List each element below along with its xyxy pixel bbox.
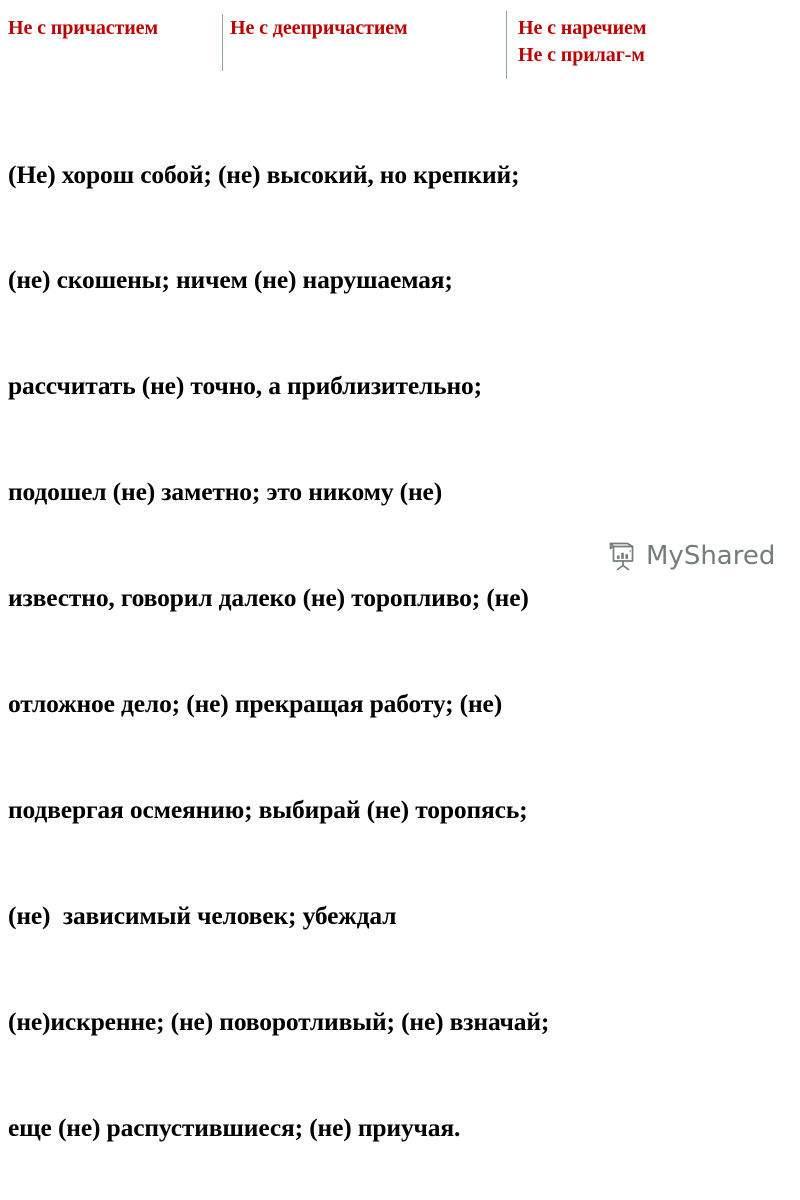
presentation-chart-icon (607, 540, 639, 572)
header-column-adjective-line-2: Не с прилаг-м (518, 42, 646, 69)
myshared-watermark: MyShared (607, 540, 775, 572)
header-divider-2 (506, 11, 507, 79)
myshared-watermark-label: MyShared (646, 543, 775, 569)
header-column-adverb-line-1: Не с наречием (518, 15, 646, 42)
header-column-gerund: Не с деепричастием (230, 15, 408, 42)
exercise-text-line: рассчитать (не) точно, а приблизительно; (8, 368, 800, 403)
exercise-text-line: (не)искренне; (не) поворотливый; (не) вз… (8, 1004, 800, 1039)
header-column-gerund-line-1: Не с деепричастием (230, 15, 408, 42)
exercise-text-line: отложное дело; (не) прекращая работу; (н… (8, 686, 800, 721)
exercise-text-line: известно, говорил далеко (не) торопливо;… (8, 580, 800, 615)
exercise-text-line: (не) зависимый человек; убеждал (8, 898, 800, 933)
exercise-text-line: (не) скошены; ничем (не) нарушаемая; (8, 262, 800, 297)
exercise-text-line: подвергая осмеянию; выбирай (не) торопяс… (8, 792, 800, 827)
exercise-text-block: (Не) хорош собой; (не) высокий, но крепк… (8, 86, 800, 1200)
header-column-adverb-adjective: Не с наречием Не с прилаг-м (518, 15, 646, 69)
header-row: Не с причастием Не с деепричастием Не с … (0, 0, 800, 84)
exercise-text-line: (Не) хорош собой; (не) высокий, но крепк… (8, 157, 800, 192)
header-column-participle-line-1: Не с причастием (8, 15, 158, 42)
slide-canvas: Не с причастием Не с деепричастием Не с … (0, 0, 800, 600)
header-column-participle: Не с причастием (8, 15, 158, 42)
exercise-text-line: еще (не) распустившиеся; (не) приучая. (8, 1110, 800, 1145)
header-divider-1 (222, 14, 223, 71)
exercise-text-line: подошел (не) заметно; это никому (не) (8, 474, 800, 509)
